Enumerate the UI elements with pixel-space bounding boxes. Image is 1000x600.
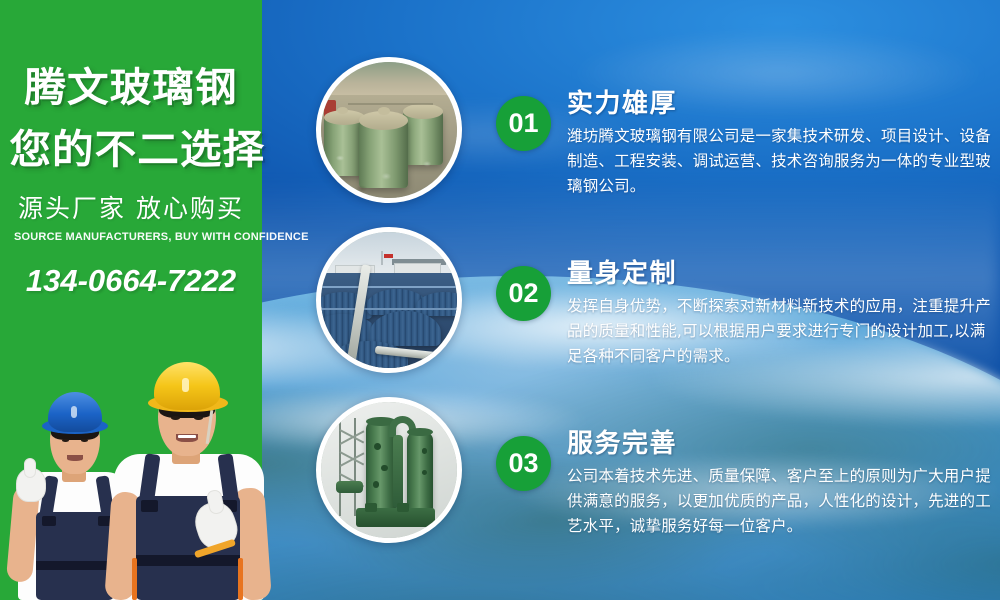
tower-main-nozzle-3 <box>373 481 380 488</box>
tower-secondary <box>407 432 433 511</box>
phone-number[interactable]: 134-0664-7222 <box>14 265 248 296</box>
brand-title-line1: 腾文玻璃钢 <box>9 68 252 108</box>
worker-front-trim-left <box>132 558 137 600</box>
product-photo-frp-scrubber-towers[interactable] <box>316 397 462 543</box>
worker-back-mouth <box>67 455 83 461</box>
towers-inlet-duct <box>336 481 363 493</box>
workers-photo <box>0 330 300 600</box>
product-photo-column <box>316 0 462 600</box>
feature-body-02: 量身定制 发挥自身优势，不断探索对新材料新技术的应用，注重提升产品的质量和性能,… <box>567 260 1000 369</box>
towers-downcomer <box>393 435 403 508</box>
feature-item-03: 03 服务完善 公司本着技术先进、质量保障、客户至上的原则为广大用户提供满意的服… <box>490 430 1000 539</box>
feature-item-02: 02 量身定制 发挥自身优势，不断探索对新材料新技术的应用，注重提升产品的质量和… <box>490 260 1000 369</box>
brand-block: 腾文玻璃钢 您的不二选择 源头厂家 放心购买 SOURCE MANUFACTUR… <box>0 0 262 296</box>
feature-title-01: 实力雄厚 <box>567 90 1000 118</box>
plant-sign <box>384 254 394 258</box>
tanks-walkway <box>348 103 432 105</box>
worker-front <box>108 350 268 600</box>
worker-back-eye-left <box>62 439 69 442</box>
feature-body-01: 实力雄厚 潍坊腾文玻璃钢有限公司是一家集技术研发、项目设计、设备制造、工程安装、… <box>567 90 1000 199</box>
feature-badge-02: 02 <box>496 266 551 321</box>
feature-badge-01: 01 <box>496 96 551 151</box>
tower-main-nozzle-2 <box>381 465 388 472</box>
product-photo-frp-storage-tanks[interactable] <box>316 57 462 203</box>
plant-railing-mid <box>321 308 457 310</box>
feature-desc-03: 公司本着技术先进、质量保障、客户至上的原则为广大用户提供满意的服务，以更加优质的… <box>567 464 999 539</box>
feature-item-01: 01 实力雄厚 潍坊腾文玻璃钢有限公司是一家集技术研发、项目设计、设备制造、工程… <box>490 90 1000 199</box>
plant-mast <box>381 251 383 265</box>
worker-front-teeth <box>178 435 196 438</box>
feature-body-03: 服务完善 公司本着技术先进、质量保障、客户至上的原则为广大用户提供满意的服务，以… <box>567 430 1000 539</box>
feature-badge-03: 03 <box>496 436 551 491</box>
dome-5 <box>370 311 441 346</box>
tower-secondary-nozzle-1 <box>422 448 427 453</box>
worker-front-eye-left <box>171 416 180 420</box>
worker-back-buckle-left <box>42 516 56 526</box>
feature-desc-01: 潍坊腾文玻璃钢有限公司是一家集技术研发、项目设计、设备制造、工程安装、调试运营、… <box>567 124 999 199</box>
tank-left-hatch <box>337 107 348 114</box>
worker-front-eye-right <box>194 416 203 420</box>
product-photo-covered-treatment-tanks[interactable] <box>316 227 462 373</box>
worker-front-buckle-left <box>141 500 158 512</box>
promo-banner: 腾文玻璃钢 您的不二选择 源头厂家 放心购买 SOURCE MANUFACTUR… <box>0 0 1000 600</box>
towers-pump-left <box>365 503 377 513</box>
feature-title-03: 服务完善 <box>567 430 1000 458</box>
feature-list: 01 实力雄厚 潍坊腾文玻璃钢有限公司是一家集技术研发、项目设计、设备制造、工程… <box>490 0 1000 600</box>
towers-pump-right <box>397 503 409 513</box>
tower-main-nozzle-1 <box>374 443 381 450</box>
worker-front-helmet-vent <box>182 378 189 392</box>
feature-desc-02: 发挥自身优势，不断探索对新材料新技术的应用，注重提升产品的质量和性能,可以根据用… <box>567 294 999 369</box>
worker-front-trim-right <box>238 558 243 600</box>
tower-secondary-cap <box>407 428 433 436</box>
tanks-backdrop <box>321 62 457 97</box>
brand-tagline-cn: 源头厂家 放心购买 <box>14 196 248 221</box>
worker-front-belt <box>136 555 240 566</box>
brand-title-line2: 您的不二选择 <box>9 130 252 170</box>
brand-tagline-en: SOURCE MANUFACTURERS, BUY WITH CONFIDENC… <box>14 232 248 243</box>
worker-back-belt <box>36 561 114 570</box>
feature-title-02: 量身定制 <box>567 260 1000 288</box>
plant-railing-top <box>321 286 457 288</box>
tanks-gravel <box>321 141 457 198</box>
worker-back-helmet-vent <box>71 406 77 418</box>
worker-back-thumb <box>24 458 36 478</box>
worker-back-eye-right <box>81 439 88 442</box>
